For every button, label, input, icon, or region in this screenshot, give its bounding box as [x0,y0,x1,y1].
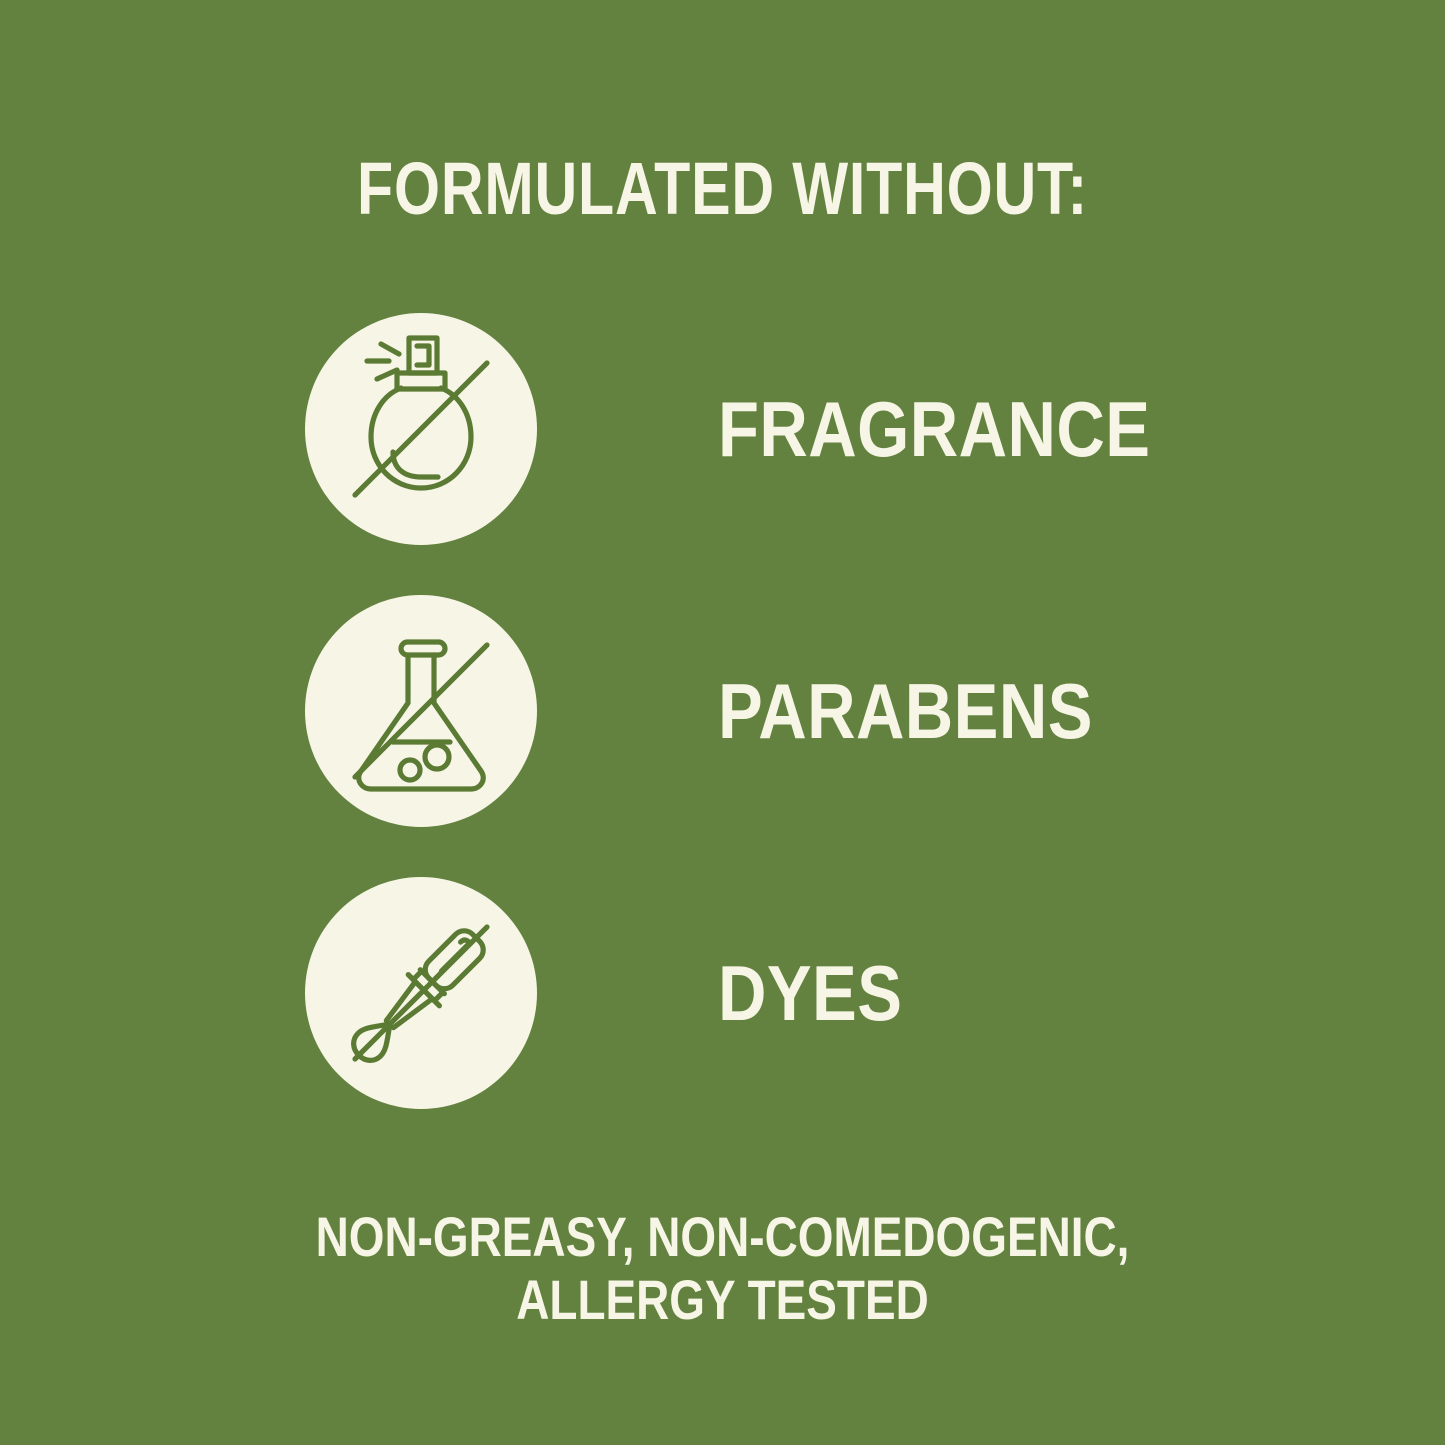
no-parabens-flask-icon [305,595,537,827]
claim-label: DYES [718,954,902,1032]
no-dyes-dropper-icon [305,877,537,1109]
page-title: FORMULATED WITHOUT: [145,148,1301,229]
claim-icon-badge [305,877,537,1109]
claim-label: PARABENS [718,672,1093,750]
claim-icon-badge [305,313,537,545]
footer-claims: NON-GREASY, NON-COMEDOGENIC, ALLERGY TES… [0,1206,1445,1331]
claim-icon-badge [305,595,537,827]
claim-label: FRAGRANCE [718,390,1150,468]
no-fragrance-spray-bottle-icon [305,313,537,545]
claims-list: FRAGRANCE [0,313,1445,1159]
claim-row: PARABENS [0,595,1445,827]
claim-row: FRAGRANCE [0,313,1445,545]
footer-line-1: NON-GREASY, NON-COMEDOGENIC, [130,1206,1315,1269]
footer-line-2: ALLERGY TESTED [130,1269,1315,1332]
formulated-without-infographic: FORMULATED WITHOUT: [0,0,1445,1445]
claim-row: DYES [0,877,1445,1109]
